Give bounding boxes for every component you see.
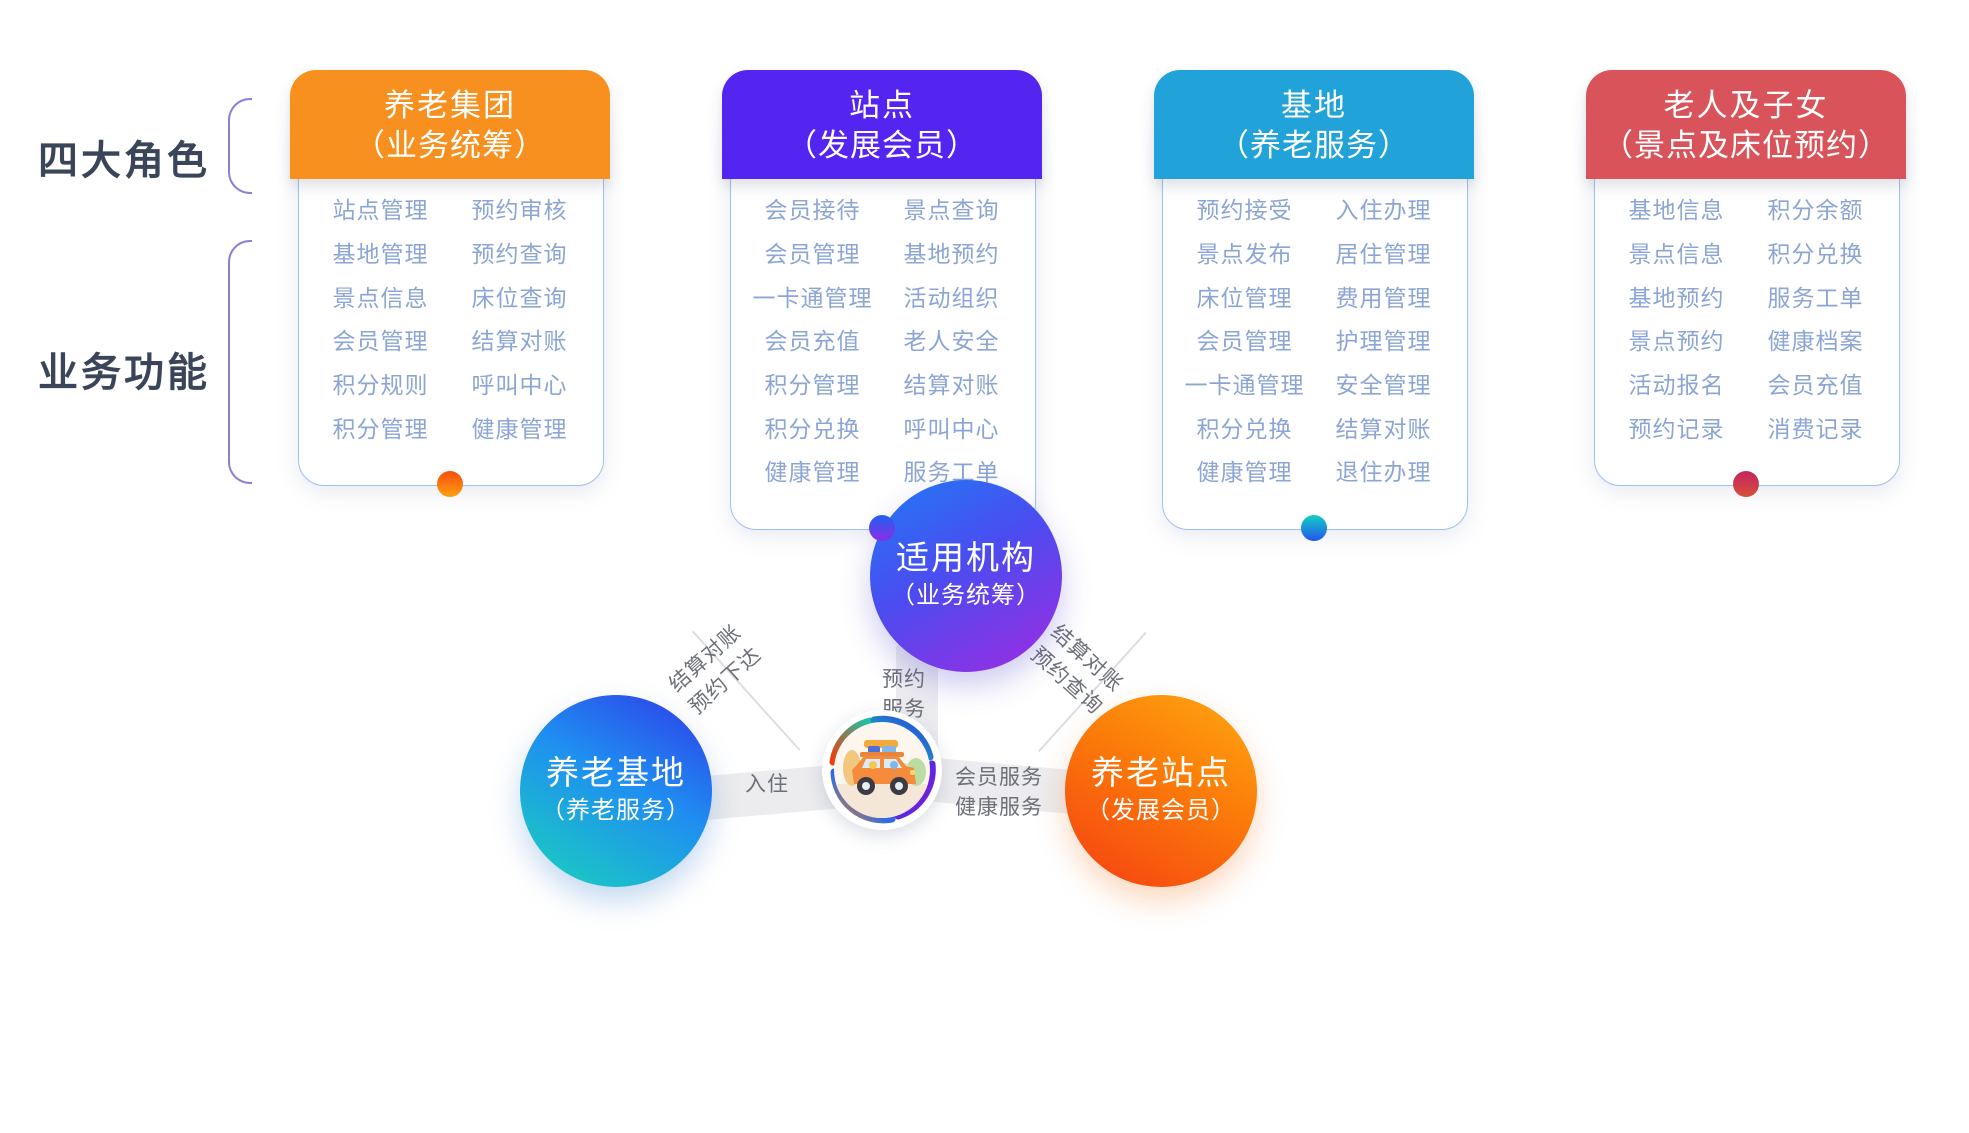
role-card-header: 养老集团 （业务统筹）: [290, 70, 610, 179]
function-item[interactable]: 护理管理: [1336, 324, 1432, 360]
function-item[interactable]: 活动组织: [904, 281, 1000, 317]
function-item[interactable]: 预约接受: [1197, 193, 1293, 229]
function-item[interactable]: 健康管理: [472, 412, 568, 448]
function-item[interactable]: 预约查询: [472, 237, 568, 273]
role-card-jidi[interactable]: 基地 （养老服务） 预约接受入住办理景点发布居住管理床位管理费用管理会员管理护理…: [1154, 70, 1474, 491]
card-accent-dot: [437, 471, 463, 497]
role-card-subtitle: （景点及床位预约）: [1592, 126, 1900, 166]
function-item[interactable]: 入住办理: [1336, 193, 1432, 229]
function-item[interactable]: 积分规则: [333, 368, 429, 404]
role-card-subtitle: （发展会员）: [728, 126, 1036, 166]
function-item[interactable]: 呼叫中心: [472, 368, 568, 404]
function-grid: 会员接待景点查询会员管理基地预约一卡通管理活动组织会员充值老人安全积分管理结算对…: [722, 193, 1042, 490]
node-subtitle: （养老服务）: [541, 793, 691, 829]
function-item[interactable]: 基地预约: [1629, 281, 1725, 317]
role-card-header: 基地 （养老服务）: [1154, 70, 1474, 179]
function-item[interactable]: 结算对账: [1336, 412, 1432, 448]
node-subtitle: （发展会员）: [1086, 793, 1236, 829]
connector-label-settlement-dispatch: 结算对账预约下达: [663, 618, 769, 722]
function-item[interactable]: 预约记录: [1629, 412, 1725, 448]
function-item[interactable]: 景点查询: [904, 193, 1000, 229]
travel-car-art: [834, 722, 930, 818]
axis-label-roles: 四大角色: [38, 128, 210, 186]
role-card-subtitle: （养老服务）: [1160, 126, 1468, 166]
function-grid: 预约接受入住办理景点发布居住管理床位管理费用管理会员管理护理管理一卡通管理安全管…: [1154, 193, 1474, 490]
function-item[interactable]: 会员充值: [765, 324, 861, 360]
function-item[interactable]: 站点管理: [333, 193, 429, 229]
function-item[interactable]: 床位查询: [472, 281, 568, 317]
function-item[interactable]: 健康档案: [1768, 324, 1864, 360]
function-item[interactable]: 积分兑换: [765, 412, 861, 448]
function-item[interactable]: 呼叫中心: [904, 412, 1000, 448]
role-card-title: 老人及子女: [1592, 86, 1900, 126]
center-badge: [822, 710, 942, 830]
node-subtitle: （业务统筹）: [891, 578, 1041, 614]
function-item[interactable]: 健康管理: [765, 455, 861, 491]
role-card-laoren-zinv[interactable]: 老人及子女 （景点及床位预约） 基地信息积分余额景点信息积分兑换基地预约服务工单…: [1586, 70, 1906, 447]
function-item[interactable]: 退住办理: [1336, 455, 1432, 491]
diagram-node-base[interactable]: 养老基地 （养老服务）: [520, 695, 712, 887]
function-item[interactable]: 结算对账: [904, 368, 1000, 404]
function-item[interactable]: 积分兑换: [1768, 237, 1864, 273]
function-item[interactable]: 景点发布: [1197, 237, 1293, 273]
function-item[interactable]: 消费记录: [1768, 412, 1864, 448]
card-accent-dot: [869, 515, 895, 541]
infographic-canvas: 四大角色 业务功能 养老集团 （业务统筹） 站点管理预约审核基地管理预约查询景点…: [0, 0, 1969, 1133]
function-item[interactable]: 基地管理: [333, 237, 429, 273]
function-item[interactable]: 费用管理: [1336, 281, 1432, 317]
card-accent-dot: [1733, 471, 1759, 497]
function-item[interactable]: 居住管理: [1336, 237, 1432, 273]
function-item[interactable]: 会员管理: [1197, 324, 1293, 360]
diagram-node-institution[interactable]: 适用机构 （业务统筹）: [870, 480, 1062, 672]
function-item[interactable]: 预约审核: [472, 193, 568, 229]
function-item[interactable]: 积分管理: [765, 368, 861, 404]
function-item[interactable]: 结算对账: [472, 324, 568, 360]
connector-label-checkin: 入住: [745, 770, 789, 800]
function-item[interactable]: 景点预约: [1629, 324, 1725, 360]
function-item[interactable]: 基地预约: [904, 237, 1000, 273]
node-title: 养老站点: [1091, 753, 1231, 793]
function-grid: 基地信息积分余额景点信息积分兑换基地预约服务工单景点预约健康档案活动报名会员充值…: [1586, 193, 1906, 447]
function-item[interactable]: 积分管理: [333, 412, 429, 448]
role-card-title: 养老集团: [296, 86, 604, 126]
node-title: 养老基地: [546, 753, 686, 793]
bracket-functions: [228, 240, 252, 484]
function-grid: 站点管理预约审核基地管理预约查询景点信息床位查询会员管理结算对账积分规则呼叫中心…: [290, 193, 610, 447]
diagram-node-station[interactable]: 养老站点 （发展会员）: [1065, 695, 1257, 887]
function-item[interactable]: 一卡通管理: [753, 281, 873, 317]
node-title: 适用机构: [896, 538, 1036, 578]
function-item[interactable]: 活动报名: [1629, 368, 1725, 404]
function-item[interactable]: 积分余额: [1768, 193, 1864, 229]
role-card-title: 站点: [728, 86, 1036, 126]
bracket-roles: [228, 98, 252, 194]
function-item[interactable]: 安全管理: [1336, 368, 1432, 404]
card-accent-dot: [1301, 515, 1327, 541]
function-item[interactable]: 会员管理: [765, 237, 861, 273]
role-card-header: 站点 （发展会员）: [722, 70, 1042, 179]
function-item[interactable]: 健康管理: [1197, 455, 1293, 491]
function-item[interactable]: 服务工单: [1768, 281, 1864, 317]
function-item[interactable]: 景点信息: [333, 281, 429, 317]
axis-label-functions: 业务功能: [38, 340, 210, 398]
role-card-header: 老人及子女 （景点及床位预约）: [1586, 70, 1906, 179]
role-card-yanglao-jituan[interactable]: 养老集团 （业务统筹） 站点管理预约审核基地管理预约查询景点信息床位查询会员管理…: [290, 70, 610, 447]
function-item[interactable]: 一卡通管理: [1185, 368, 1305, 404]
function-item[interactable]: 积分兑换: [1197, 412, 1293, 448]
function-item[interactable]: 基地信息: [1629, 193, 1725, 229]
function-item[interactable]: 会员管理: [333, 324, 429, 360]
role-card-zhandian[interactable]: 站点 （发展会员） 会员接待景点查询会员管理基地预约一卡通管理活动组织会员充值老…: [722, 70, 1042, 491]
connector-label-member-health: 会员服务健康服务: [955, 763, 1043, 824]
function-item[interactable]: 老人安全: [904, 324, 1000, 360]
relation-diagram: 结算对账预约下达 预约服务 结算对账预约查询 入住 会员服务健康服务 适用机构 …: [600, 570, 1600, 1130]
role-card-title: 基地: [1160, 86, 1468, 126]
role-card-subtitle: （业务统筹）: [296, 126, 604, 166]
function-item[interactable]: 床位管理: [1197, 281, 1293, 317]
function-item[interactable]: 会员接待: [765, 193, 861, 229]
function-item[interactable]: 会员充值: [1768, 368, 1864, 404]
function-item[interactable]: 景点信息: [1629, 237, 1725, 273]
